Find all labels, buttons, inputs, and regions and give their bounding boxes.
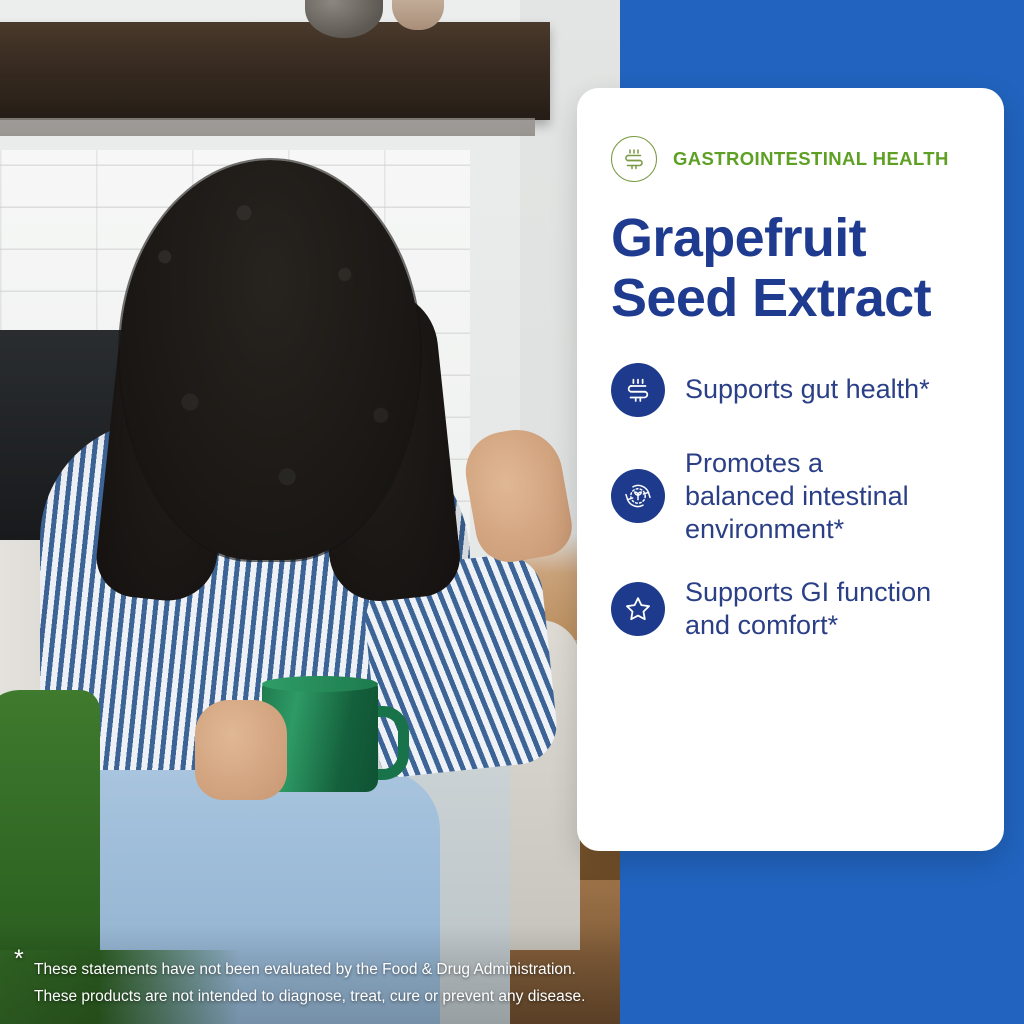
- photo-mug-rim: [262, 676, 378, 692]
- photo-holding-hand: [195, 700, 287, 800]
- category-badge: GASTROINTESTINAL HEALTH: [611, 136, 974, 182]
- photo-mantel-lip: [0, 118, 535, 136]
- page-title-line-1: Grapefruit: [611, 208, 974, 268]
- renewal-sprout-icon: [611, 469, 665, 523]
- benefits-list: Supports gut health* Promotes a b: [611, 363, 974, 642]
- disclaimer-line-2: These products are not intended to diagn…: [16, 983, 616, 1010]
- page-title-line-2: Seed Extract: [611, 268, 974, 328]
- disclaimer-line-1: These statements have not been evaluated…: [16, 956, 616, 983]
- promo-image-canvas: * These statements have not been evaluat…: [0, 0, 1024, 1024]
- intestine-icon: [611, 363, 665, 417]
- lifestyle-photo: * These statements have not been evaluat…: [0, 0, 620, 1024]
- benefit-item: Supports GI function and comfort*: [611, 576, 974, 642]
- category-badge-label: GASTROINTESTINAL HEALTH: [673, 148, 949, 170]
- page-title: Grapefruit Seed Extract: [611, 208, 974, 329]
- benefit-text: Supports gut health*: [685, 373, 930, 406]
- benefit-item: Supports gut health*: [611, 363, 974, 417]
- benefit-item: Promotes a balanced intestinal environme…: [611, 447, 974, 546]
- intestine-icon: [611, 136, 657, 182]
- product-info-card: GASTROINTESTINAL HEALTH Grapefruit Seed …: [577, 88, 1004, 851]
- disclaimer-text: These statements have not been evaluated…: [16, 956, 616, 1010]
- photo-curly-hair: [120, 160, 420, 560]
- benefit-text: Supports GI function and comfort*: [685, 576, 935, 642]
- star-icon: [611, 582, 665, 636]
- photo-wood-mantel: [0, 22, 550, 120]
- benefit-text: Promotes a balanced intestinal environme…: [685, 447, 935, 546]
